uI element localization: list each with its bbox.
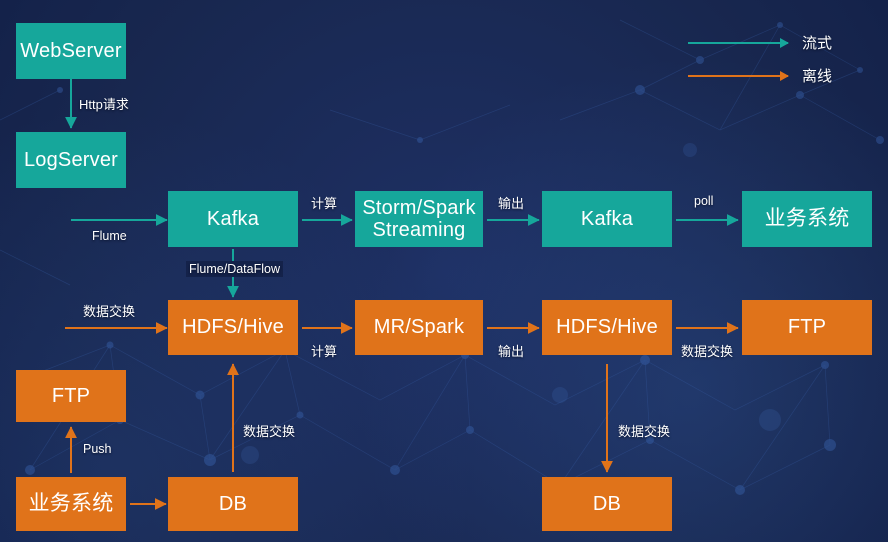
legend-item-offline: 离线 bbox=[688, 65, 832, 86]
edge-label-data-exchange-down: 数据交换 bbox=[618, 421, 670, 440]
legend-item-streaming: 流式 bbox=[688, 32, 832, 53]
arrow-right-icon-offline bbox=[688, 75, 788, 77]
edge-label-flume-dataflow: Flume/DataFlow bbox=[186, 261, 283, 277]
arrow-right-icon-streaming bbox=[688, 42, 788, 44]
edge-label-push: Push bbox=[83, 442, 112, 456]
diagram-canvas: WebServer LogServer Kafka Storm/Spark St… bbox=[0, 0, 888, 542]
edge-label-data-exchange-ftp: 数据交换 bbox=[681, 341, 733, 360]
legend-label-streaming: 流式 bbox=[802, 32, 832, 53]
legend-label-offline: 离线 bbox=[802, 65, 832, 86]
edge-label-http-request: Http请求 bbox=[79, 94, 129, 113]
edge-label-compute-stream: 计算 bbox=[311, 193, 337, 212]
edge-label-poll: poll bbox=[694, 194, 713, 208]
edge-label-flume: Flume bbox=[92, 229, 127, 243]
edge-label-data-exchange-in: 数据交换 bbox=[83, 301, 135, 320]
edge-label-compute-batch: 计算 bbox=[311, 341, 337, 360]
edge-label-output-batch: 输出 bbox=[498, 341, 524, 360]
edge-label-output-stream: 输出 bbox=[498, 193, 524, 212]
edge-label-data-exchange-up: 数据交换 bbox=[243, 421, 295, 440]
